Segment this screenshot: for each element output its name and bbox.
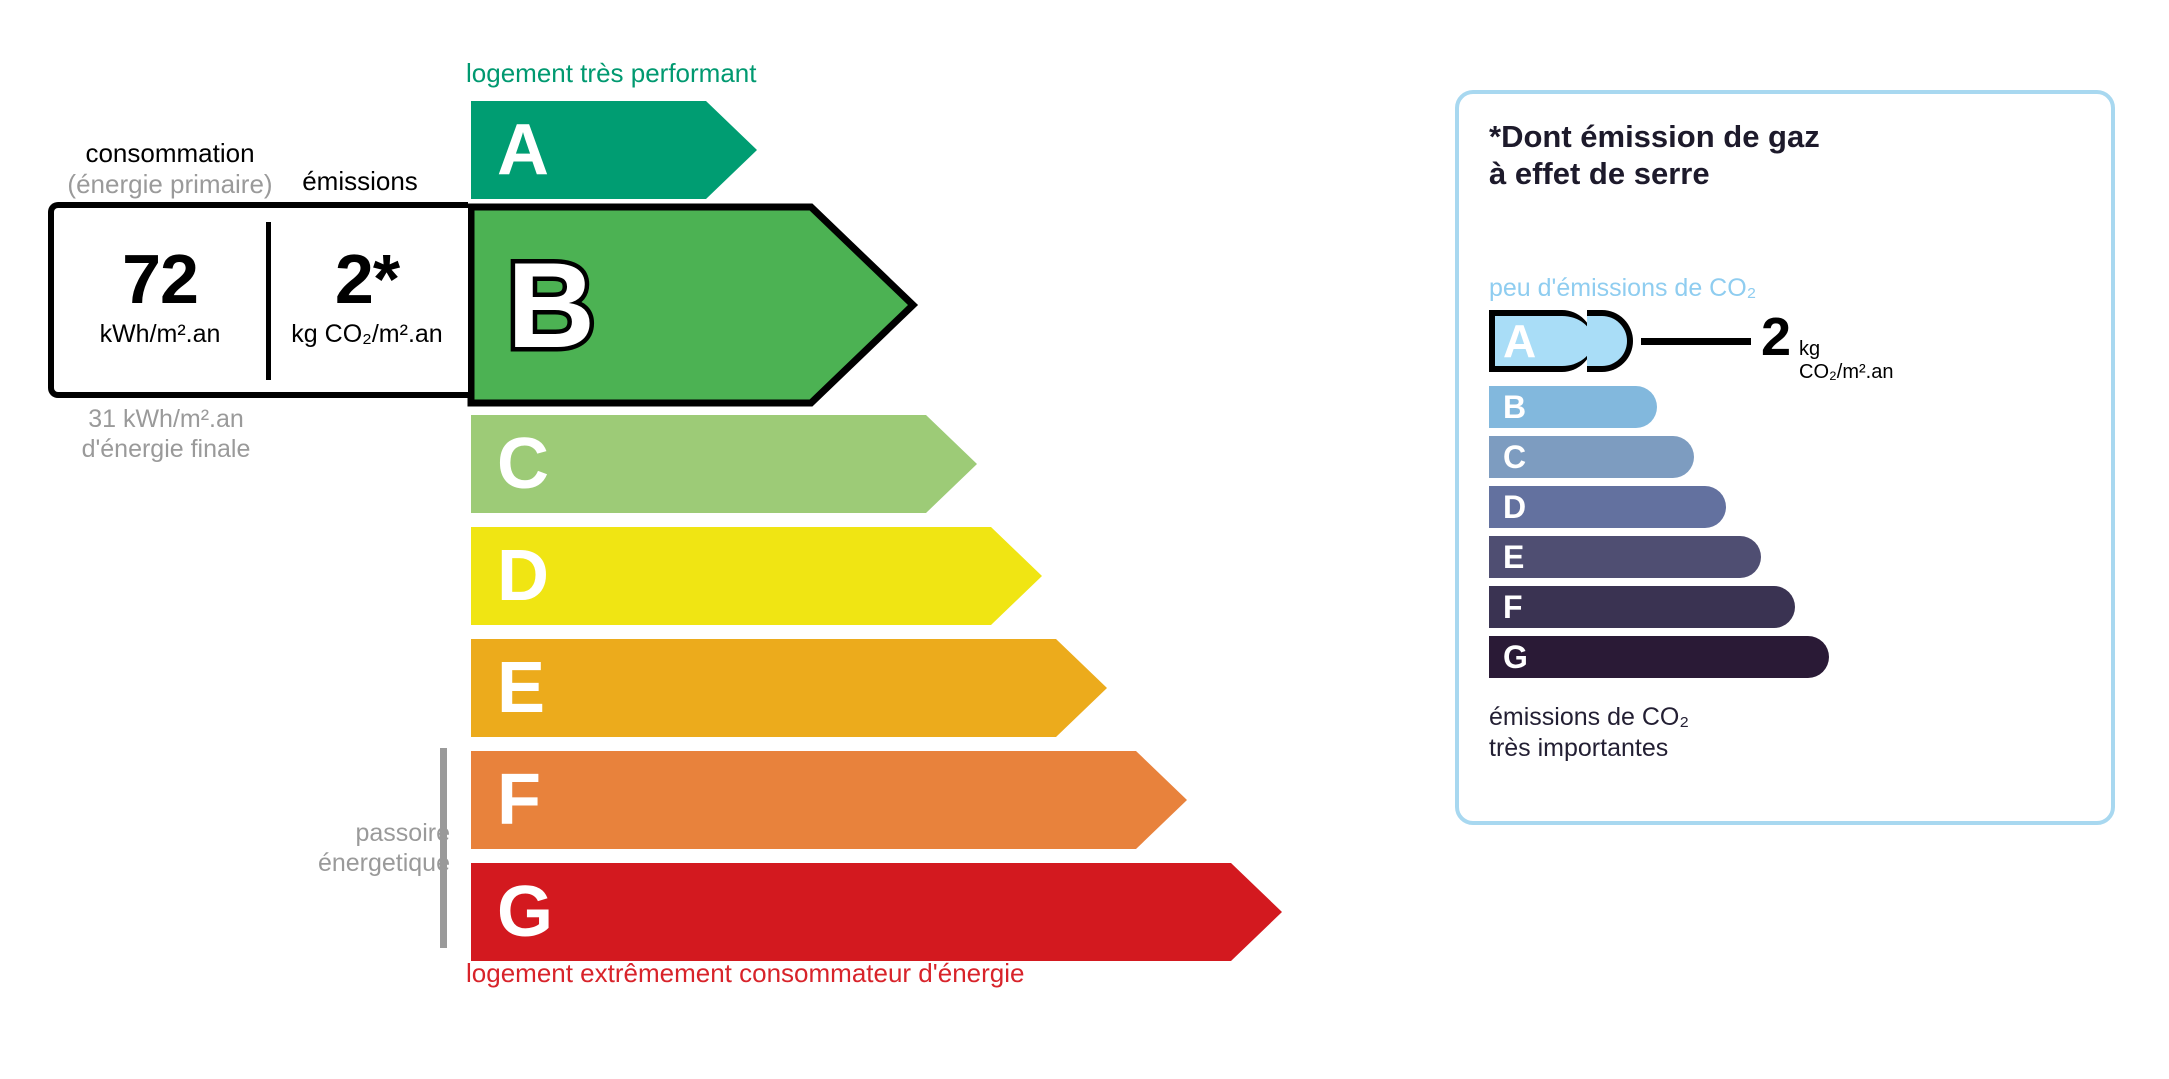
co2-row-f: F [1489,586,1795,628]
co2-footer-line1: émissions de CO₂ [1489,702,1689,733]
emissions-value: 2* [266,244,468,314]
final-energy-label: d'énergie finale [36,434,296,464]
co2-row-d: D [1489,486,1726,528]
consumption-header: consommation (énergie primaire) [55,138,285,199]
co2-letter-d: D [1503,486,1526,528]
energy-bar-letter-c: C [497,424,549,504]
co2-row-e: E [1489,536,1761,578]
co2-bar-f [1489,586,1795,628]
energy-bar-letter-a: A [497,110,549,190]
co2-letter-b: B [1503,386,1526,428]
emissions-unit: kg CO₂/m².an [266,320,468,349]
energy-bar-shape-d [471,527,1042,625]
top-legend-text: logement très performant [466,58,756,89]
energy-bar-shape-e [471,639,1107,737]
consumption-value-cell: 72 kWh/m².an [54,208,266,392]
co2-subtitle: peu d'émissions de CO₂ [1489,274,1756,303]
energy-bar-letter-e: E [497,648,545,728]
co2-panel-title: *Dont émission de gaz à effet de serre [1489,118,1820,192]
bottom-legend-text: logement extrêmement consommateur d'éner… [466,958,1024,989]
co2-panel: *Dont émission de gaz à effet de serre p… [1455,90,2115,825]
energy-bar-letter-g: G [497,872,553,952]
energy-bar-letter-d: D [497,536,549,616]
co2-title-line1: *Dont émission de gaz [1489,118,1820,155]
co2-bar-e [1489,536,1761,578]
co2-row-g: G [1489,636,1829,678]
energy-bar-letter-f: F [497,760,541,840]
energy-performance-label: logement très performant consommation (é… [0,0,1400,1079]
consumption-unit: kWh/m².an [54,320,266,349]
passoire-label-line1: passoire [250,818,450,848]
emissions-value-cell: 2* kg CO₂/m².an [266,208,468,392]
final-energy-note: 31 kWh/m².an d'énergie finale [36,404,296,464]
co2-letter-f: F [1503,586,1523,628]
consumption-header-subtitle: (énergie primaire) [55,169,285,200]
consumption-header-title: consommation [55,138,285,169]
co2-title-line2: à effet de serre [1489,155,1820,192]
co2-footer: émissions de CO₂ très importantes [1489,702,1689,763]
passoire-label: passoire énergetique [250,818,450,878]
energy-bar-shape-g [471,863,1282,961]
energy-bar-shape-f [471,751,1187,849]
co2-letter-a: A [1503,310,1536,372]
co2-bar-a-cap [1587,310,1633,372]
energy-bar-letter-b: B [507,237,595,373]
co2-letter-g: G [1503,636,1528,678]
co2-row-b: B [1489,386,1657,428]
co2-bar-g [1489,636,1829,678]
consumption-value: 72 [54,244,266,314]
value-box: 72 kWh/m².an 2* kg CO₂/m².an [48,202,468,398]
co2-footer-line2: très importantes [1489,733,1689,764]
co2-letter-e: E [1503,536,1524,578]
co2-letter-c: C [1503,436,1526,478]
co2-row-c: C [1489,436,1694,478]
passoire-label-line2: énergetique [250,848,450,878]
co2-leader-line [1641,338,1751,345]
emissions-header: émissions [290,166,430,197]
co2-value: 2 [1761,306,1791,368]
final-energy-value: 31 kWh/m².an [36,404,296,434]
co2-unit: kg CO₂/m².an [1799,338,1893,384]
